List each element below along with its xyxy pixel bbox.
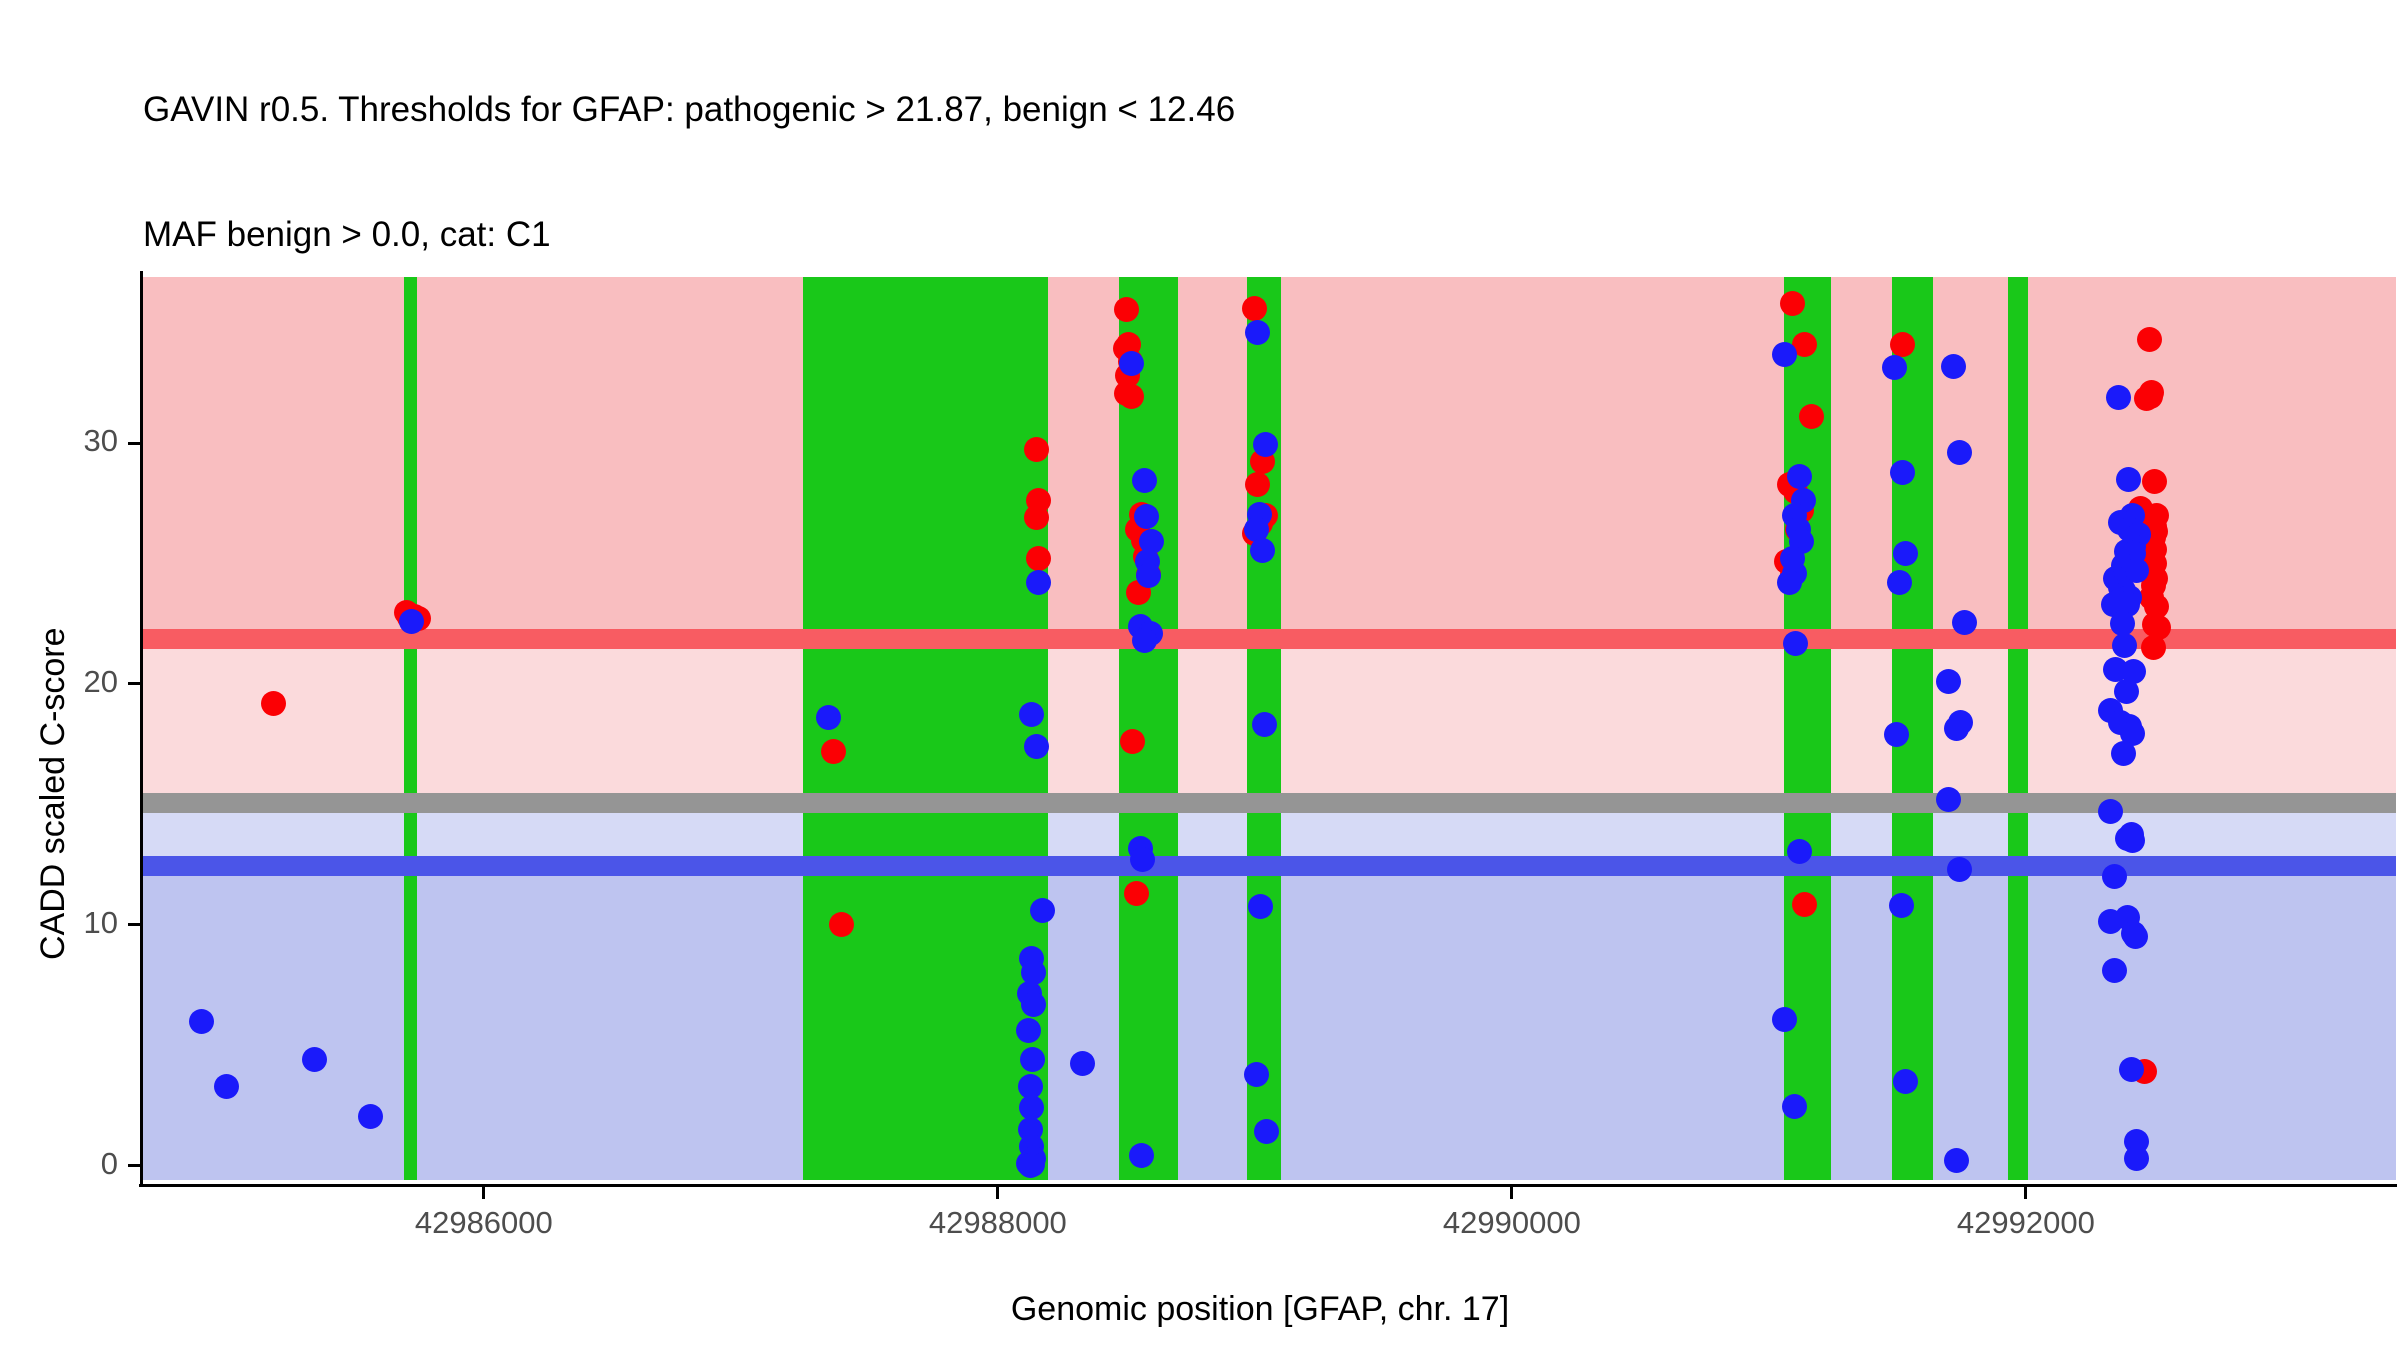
title-line-2: MAF benign > 0.0, cat: C1 [143,214,2343,256]
pathogenic-variant-point [821,739,846,764]
gnomad-variant-point [1136,563,1161,588]
pathogenic-variant-point [1024,437,1049,462]
y-axis-tick [128,1164,140,1167]
gnomad-variant-point [1783,631,1808,656]
y-axis-tick-label: 30 [30,423,118,459]
gnomad-variant-point [1889,893,1914,918]
gnomad-variant-point [2119,1057,2144,1082]
x-axis-tick [996,1187,999,1199]
gnomad-variant-point [1782,1094,1807,1119]
chart-root: GAVIN r0.5. Thresholds for GFAP: pathoge… [0,0,2400,1350]
pathogenic-variant-point [1780,291,1805,316]
gnomad-variant-point [1893,541,1918,566]
pathogenic-variant-point [829,912,854,937]
gnomad-variant-point [2106,385,2131,410]
gnomad-variant-point [2123,924,2148,949]
y-axis-tick [128,442,140,445]
pathogenic-variant-point [261,691,286,716]
pathogenic-variant-point [1245,472,1270,497]
refseq-exon-bar [404,277,417,1180]
y-axis-title: CADD scaled C-score [34,627,73,960]
gnomad-variant-point [189,1009,214,1034]
benign-threshold-line [142,856,2396,876]
title-line-1: GAVIN r0.5. Thresholds for GFAP: pathoge… [143,89,2343,131]
pathogenic-variant-point [1124,881,1149,906]
gnomad-variant-point [1944,716,1969,741]
gnomad-variant-point [2102,864,2127,889]
y-axis-tick [128,682,140,685]
x-axis-tick-label: 42992000 [1957,1205,2095,1241]
gnomad-variant-point [1893,1069,1918,1094]
x-axis-tick [1510,1187,1513,1199]
gnomad-variant-point [1134,504,1159,529]
y-axis-line [140,271,143,1186]
gnomad-variant-point [1250,538,1275,563]
pathogenic-variant-point [2141,635,2166,660]
x-axis-title-text: Genomic position [GFAP, chr. 17] [1011,1290,1509,1328]
gnomad-variant-point [1947,440,1972,465]
gnomad-variant-point [2120,828,2145,853]
gnomad-variant-point [816,705,841,730]
plot-panel [142,277,2396,1180]
gnomad-variant-point [1941,354,1966,379]
x-axis-tick [2024,1187,2027,1199]
gnomad-variant-point [1952,610,1977,635]
pathogenic-variant-point [1792,892,1817,917]
x-axis-title: Genomic position [GFAP, chr. 17] [0,1290,2400,1329]
gnomad-variant-point [1772,1007,1797,1032]
gnomad-variant-point [2116,467,2141,492]
gnomad-variant-point [302,1047,327,1072]
gnomad-variant-point [1787,839,1812,864]
gnomad-variant-point [1772,342,1797,367]
gnomad-variant-point [1253,432,1278,457]
gnomad-variant-point [1020,1047,1045,1072]
pathogenic-variant-point [1119,384,1144,409]
pathogenic-variant-point [1799,404,1824,429]
pathogenic-variant-point [2137,327,2162,352]
fallback-threshold-line [142,793,2396,813]
gnomad-variant-point [1244,1062,1269,1087]
gnomad-variant-point [1024,734,1049,759]
x-axis-tick [482,1187,485,1199]
gnomad-variant-point [1119,351,1144,376]
gnomad-variant-point [1030,898,1055,923]
gnomad-variant-point [1019,702,1044,727]
refseq-exon-bar [803,277,1048,1180]
gnomad-variant-point [1884,722,1909,747]
x-axis-tick-label: 42986000 [415,1205,553,1241]
refseq-exon-bar [1119,277,1178,1180]
pathogenic-variant-point [1890,332,1915,357]
gnomad-variant-point [1882,355,1907,380]
gnomad-variant-point [1021,992,1046,1017]
gnomad-variant-point [2102,958,2127,983]
gnomad-variant-point [1245,320,1270,345]
y-axis-tick-label: 0 [30,1146,118,1182]
pathogenic-variant-point [1120,729,1145,754]
gnomad-variant-point [1890,460,1915,485]
pathogenic-variant-point [2142,469,2167,494]
x-axis-line [139,1184,2397,1187]
x-axis-tick-label: 42988000 [929,1205,1067,1241]
pathogenic-variant-point [1114,297,1139,322]
x-axis-tick-label: 42990000 [1443,1205,1581,1241]
gnomad-variant-point [1947,857,1972,882]
pathogenic-threshold-line [142,629,2396,649]
y-axis-tick [128,923,140,926]
refseq-exon-bar [2008,277,2029,1180]
gnomad-variant-point [1130,847,1155,872]
gnomad-variant-point [358,1104,383,1129]
gnomad-variant-point [214,1074,239,1099]
gnomad-variant-point [1070,1051,1095,1076]
pathogenic-variant-point [1242,296,1267,321]
